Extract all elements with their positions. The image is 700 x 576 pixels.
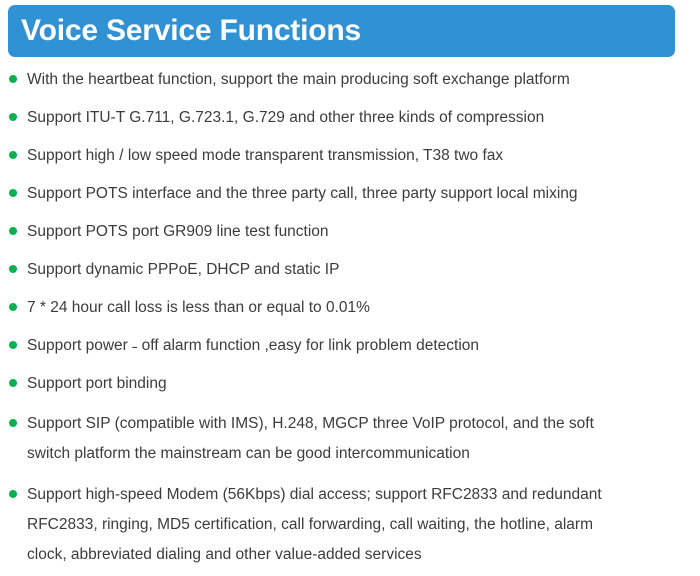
bullet-dot-icon	[9, 75, 17, 83]
list-item: Support high-speed Modem (56Kbps) dial a…	[0, 475, 700, 576]
list-item-label: Support high-speed Modem (56Kbps) dial a…	[27, 475, 686, 570]
list-item-label: Support high / low speed mode transparen…	[27, 138, 686, 171]
bullet-dot-icon	[9, 490, 17, 498]
bullet-dot-icon	[9, 113, 17, 121]
list-item-label: Support power ˗ off alarm function ,easy…	[27, 328, 686, 361]
bullet-dot-icon	[9, 303, 17, 311]
list-item-label: Support POTS interface and the three par…	[27, 176, 686, 209]
list-item: Support high / low speed mode transparen…	[0, 138, 700, 176]
list-item-label: Support port binding	[27, 366, 686, 399]
list-item-label: With the heartbeat function, support the…	[27, 62, 686, 95]
bullet-dot-icon	[9, 227, 17, 235]
list-item: Support power ˗ off alarm function ,easy…	[0, 328, 700, 366]
list-item-label: Support SIP (compatible with IMS), H.248…	[27, 404, 686, 469]
bullet-dot-icon	[9, 379, 17, 387]
bullet-dot-icon	[9, 341, 17, 349]
list-item-label: Support dynamic PPPoE, DHCP and static I…	[27, 252, 686, 285]
list-item-label: Support ITU-T G.711, G.723.1, G.729 and …	[27, 100, 686, 133]
list-item: Support dynamic PPPoE, DHCP and static I…	[0, 252, 700, 290]
list-item: Support POTS port GR909 line test functi…	[0, 214, 700, 252]
list-item: With the heartbeat function, support the…	[0, 62, 700, 100]
voice-service-functions-page: Voice Service Functions With the heartbe…	[0, 0, 700, 565]
bullet-dot-icon	[9, 151, 17, 159]
page-title: Voice Service Functions	[21, 16, 361, 46]
feature-list: With the heartbeat function, support the…	[0, 62, 700, 576]
list-item: Support SIP (compatible with IMS), H.248…	[0, 404, 700, 475]
list-item: Support POTS interface and the three par…	[0, 176, 700, 214]
list-item-label: Support POTS port GR909 line test functi…	[27, 214, 686, 247]
list-item: Support port binding	[0, 366, 700, 404]
bullet-dot-icon	[9, 189, 17, 197]
list-item: Support ITU-T G.711, G.723.1, G.729 and …	[0, 100, 700, 138]
bullet-dot-icon	[9, 265, 17, 273]
list-item: 7 * 24 hour call loss is less than or eq…	[0, 290, 700, 328]
bullet-dot-icon	[9, 419, 17, 427]
list-item-label: 7 * 24 hour call loss is less than or eq…	[27, 290, 686, 323]
section-header-banner: Voice Service Functions	[8, 5, 675, 57]
